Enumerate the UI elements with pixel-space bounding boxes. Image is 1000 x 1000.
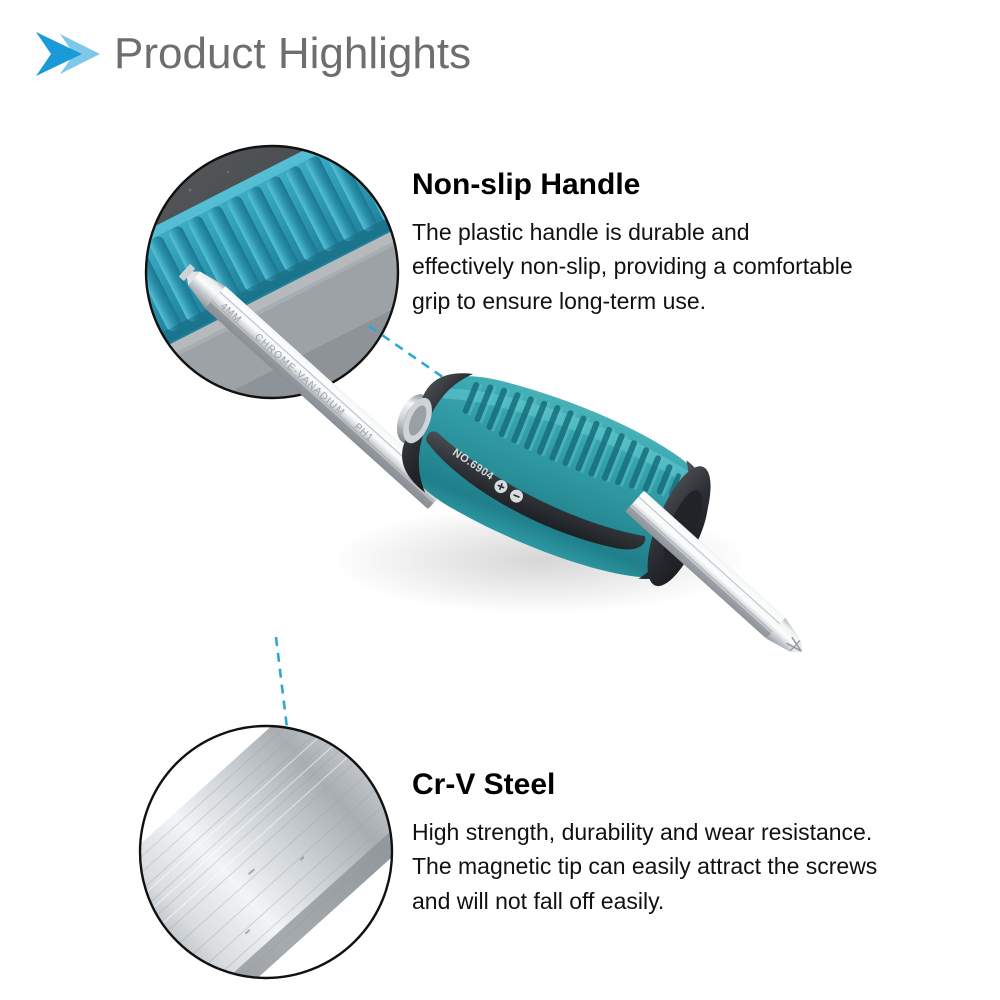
page-title: Product Highlights bbox=[114, 32, 471, 76]
handle-front-bolster bbox=[390, 360, 473, 493]
leader-lines bbox=[276, 326, 470, 728]
handle-rubber-inlay bbox=[412, 429, 653, 562]
handle-ferrule bbox=[390, 389, 437, 448]
feature-block-cr-v-steel: Cr-V Steel High strength, durability and… bbox=[412, 768, 942, 919]
infographic-page: Product Highlights bbox=[0, 0, 1000, 1000]
handle-ribs bbox=[458, 373, 689, 508]
feature-body-cr-v-steel: High strength, durability and wear resis… bbox=[412, 815, 942, 920]
handle-highlight bbox=[438, 366, 704, 499]
shaft-marking-chrome-vanadium: CHROME-VANADIUM bbox=[252, 332, 347, 419]
handle-body bbox=[386, 350, 727, 603]
feature-body-line: The plastic handle is durable and bbox=[412, 215, 942, 250]
handle-end-cap bbox=[635, 459, 725, 595]
feature-body-line: effectively non-slip, providing a comfor… bbox=[412, 249, 942, 284]
feature-body-line: and will not fall off easily. bbox=[412, 884, 942, 919]
phillips-shaft bbox=[625, 491, 812, 663]
feature-heading-cr-v-steel: Cr-V Steel bbox=[412, 768, 942, 803]
screwdriver-handle: NO.6904 bbox=[372, 345, 728, 604]
double-chevron-arrow-icon bbox=[30, 28, 104, 80]
handle-label-model: NO.6904 bbox=[450, 447, 496, 483]
page-header: Product Highlights bbox=[30, 28, 471, 80]
steel-shaft-closeup bbox=[97, 682, 439, 1000]
leader-line-shaft bbox=[276, 637, 287, 728]
callout-circle-border-top bbox=[146, 146, 398, 398]
handle-badges bbox=[491, 478, 526, 504]
handle-label: NO.6904 bbox=[450, 447, 496, 483]
flathead-shaft: CHROME-VANADIUM 4MM PH1 bbox=[175, 259, 448, 509]
shaft-marking-size: 4MM bbox=[218, 301, 244, 326]
callout-circle-border-bottom bbox=[140, 726, 392, 978]
shaft-marking-ph1: PH1 bbox=[352, 421, 376, 444]
feature-body-non-slip-handle: The plastic handle is durable and effect… bbox=[412, 215, 942, 320]
feature-body-line: High strength, durability and wear resis… bbox=[412, 815, 942, 850]
feature-heading-non-slip-handle: Non-slip Handle bbox=[412, 168, 942, 203]
feature-block-non-slip-handle: Non-slip Handle The plastic handle is du… bbox=[412, 168, 942, 319]
leader-line-handle bbox=[369, 326, 470, 396]
feature-body-line: grip to ensure long-term use. bbox=[412, 284, 942, 319]
phillips-tip bbox=[766, 618, 811, 663]
handle-chuck-ring bbox=[397, 394, 437, 447]
feature-body-line: The magnetic tip can easily attract the … bbox=[412, 849, 942, 884]
